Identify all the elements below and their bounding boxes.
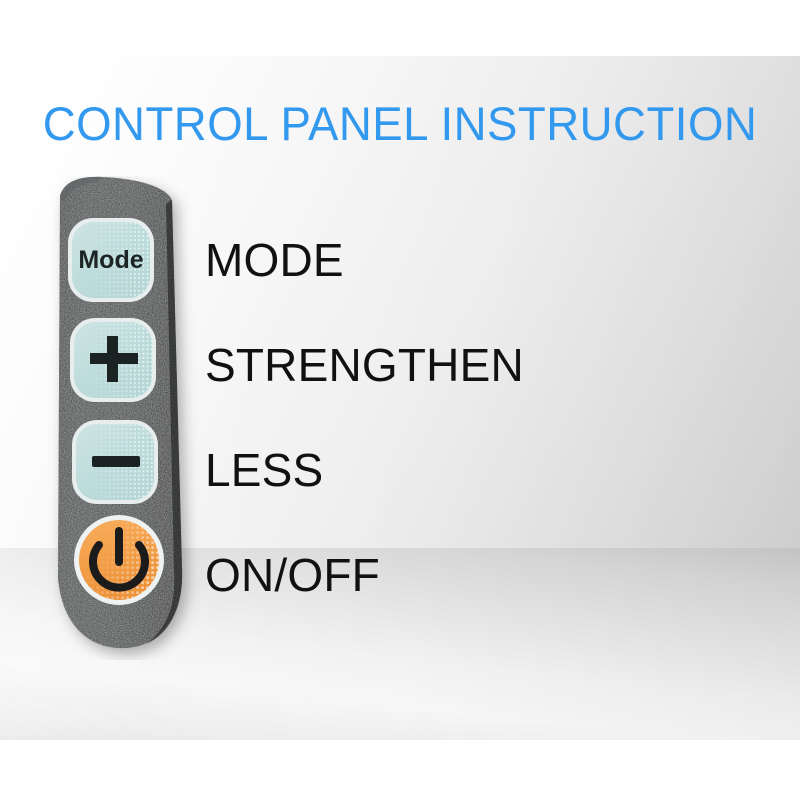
instruction-label-onoff: ON/OFF (205, 552, 380, 598)
device-button-mode-label: Mode (78, 246, 143, 274)
control-panel-instruction-graphic: CONTROL PANEL INSTRUCTION (0, 0, 800, 800)
instruction-label-strengthen: STRENGTHEN (205, 342, 524, 388)
background-band-top (0, 0, 800, 56)
background-band-bottom (0, 740, 800, 800)
page-title: CONTROL PANEL INSTRUCTION (12, 96, 788, 151)
device-button-minus[interactable] (72, 420, 158, 504)
remote-control-image: Mode (16, 176, 206, 660)
instruction-row-less: LESS (205, 442, 323, 498)
instruction-row-strengthen: STRENGTHEN (205, 337, 524, 393)
minus-icon (92, 456, 140, 467)
instruction-label-list: MODE STRENGTHEN LESS ON/OFF (205, 176, 765, 660)
instruction-row-onoff: ON/OFF (205, 547, 380, 603)
instruction-label-less: LESS (205, 447, 323, 493)
remote-control-svg: Mode (16, 176, 206, 660)
device-button-plus[interactable] (70, 318, 156, 402)
instruction-row-mode: MODE (205, 232, 344, 288)
device-button-mode[interactable]: Mode (68, 218, 154, 302)
instruction-label-mode: MODE (205, 237, 344, 283)
